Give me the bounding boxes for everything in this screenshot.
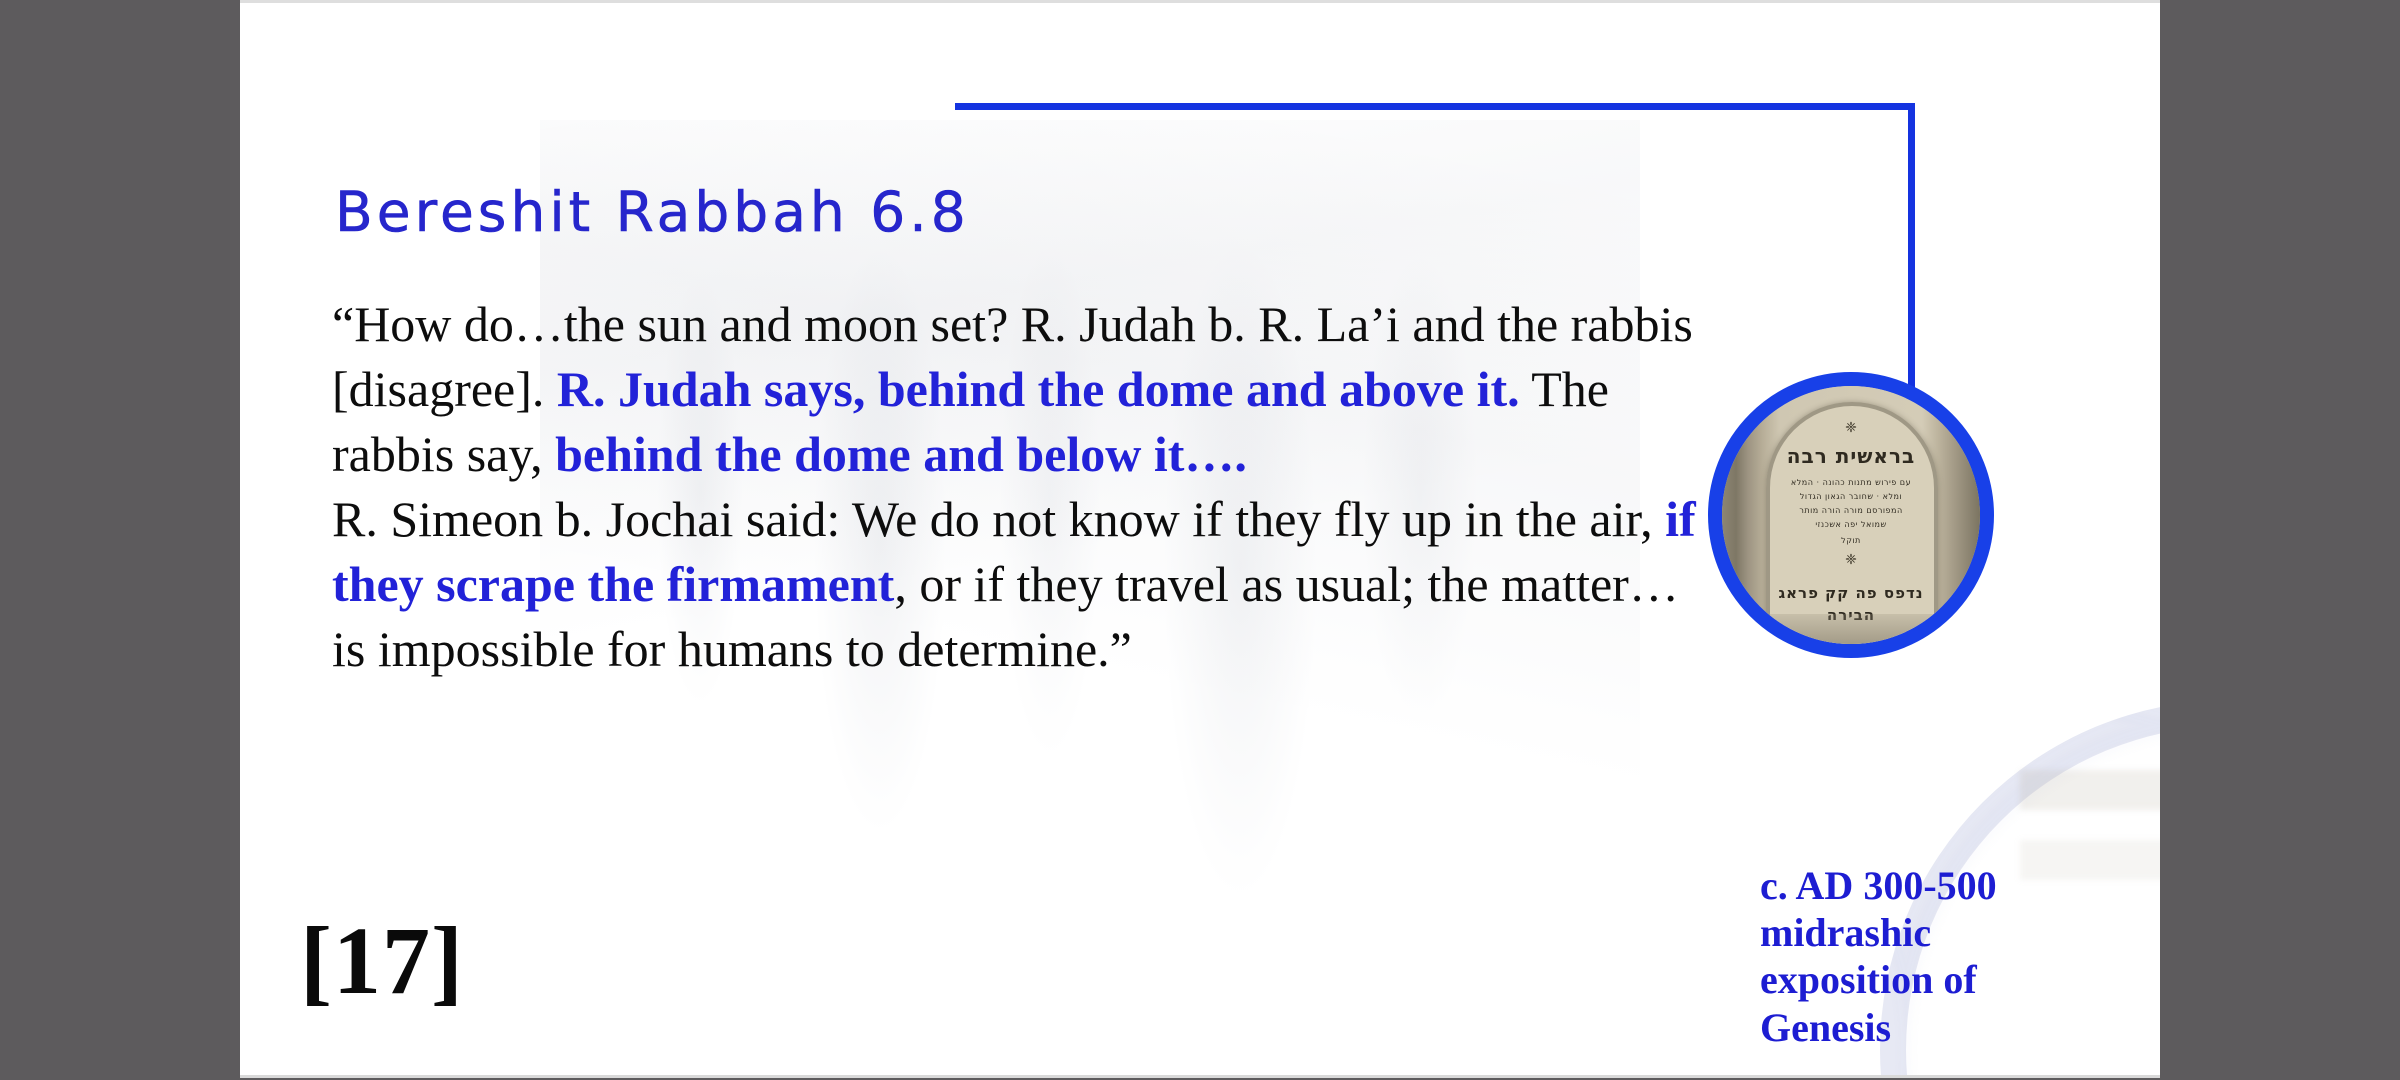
hebrew-subtitle-line-5: תוקל: [1722, 536, 1980, 545]
page-title: Bereshit Rabbah 6.8: [335, 180, 970, 244]
quote-p1-highlight-1: R. Judah says, behind the dome and above…: [557, 361, 1520, 417]
hebrew-subtitle-line-4: שמואל יפה אשכנזי: [1722, 520, 1980, 529]
quotation-text: “How do…the sun and moon set? R. Judah b…: [332, 292, 1712, 682]
connector-line-horizontal: [955, 103, 1915, 110]
screen: Bereshit Rabbah 6.8 “How do…the sun and …: [0, 0, 2400, 1080]
figure-image-content: ❈ בראשית רבה עם פירוש מתנות כהונה · המלא…: [1722, 386, 1980, 644]
presentation-slide: Bereshit Rabbah 6.8 “How do…the sun and …: [240, 0, 2160, 1078]
quote-p1-highlight-2: behind the dome and below it….: [555, 426, 1247, 482]
slide-top-edge: [240, 0, 2160, 3]
title-page-footer-band: [1722, 614, 1980, 644]
quotation-paragraph-2: R. Simeon b. Jochai said: We do not know…: [332, 487, 1712, 682]
figure-caption-line-4: Genesis: [1760, 1004, 2050, 1051]
figure-caption-line-3: exposition of: [1760, 956, 2050, 1003]
figure-caption-line-1: c. AD 300-500: [1760, 862, 2050, 909]
quotation-paragraph-1: “How do…the sun and moon set? R. Judah b…: [332, 292, 1712, 487]
hebrew-title: בראשית רבה: [1722, 444, 1980, 468]
quote-p2-plain-1: R. Simeon b. Jochai said: We do not know…: [332, 491, 1665, 547]
connector-line-vertical: [1908, 103, 1915, 393]
figure-caption: c. AD 300-500 midrashic exposition of Ge…: [1760, 862, 2050, 1051]
hebrew-subtitle-line-3: המפורסם מורה הורה מותר: [1722, 506, 1980, 515]
slide-bottom-edge: [240, 1075, 2160, 1078]
hebrew-imprint-line-1: נדפס פה קק פראג: [1722, 584, 1980, 602]
figure-caption-line-2: midrashic: [1760, 909, 2050, 956]
hebrew-subtitle-line-1: עם פירוש מתנות כהונה · המלא: [1722, 478, 1980, 487]
hebrew-subtitle-line-2: ומלא · שחובר הגאון הגדול: [1722, 492, 1980, 501]
slide-number: [17]: [300, 905, 464, 1016]
ornament-top-icon: ❈: [1722, 420, 1980, 437]
figure-image-circle: ❈ בראשית רבה עם פירוש מתנות כהונה · המלא…: [1708, 372, 1994, 658]
ornament-middle-icon: ❈: [1722, 552, 1980, 569]
